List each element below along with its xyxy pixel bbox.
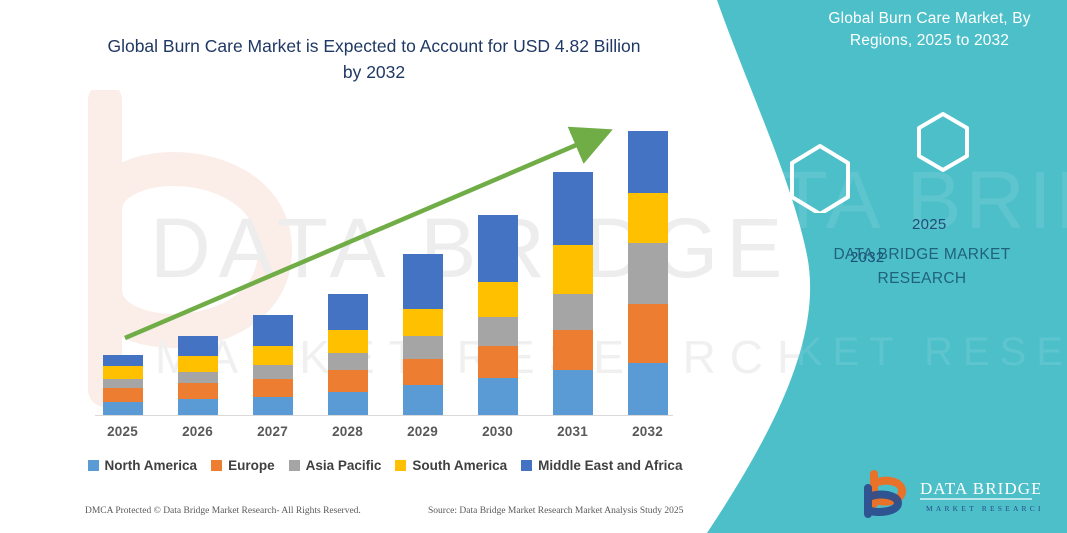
bar-2025 [103, 355, 143, 416]
bar-segment [103, 388, 143, 401]
bar-segment [328, 370, 368, 391]
bar-segment [178, 372, 218, 383]
hexagon-group: 2025 2032 [687, 88, 1067, 213]
legend-label: North America [105, 458, 198, 473]
bar-segment [553, 330, 593, 370]
bar-2031 [553, 172, 593, 416]
bar-segment [478, 346, 518, 379]
legend-item[interactable]: North America [88, 458, 198, 473]
legend-item[interactable]: Asia Pacific [289, 458, 382, 473]
bar-segment [103, 402, 143, 416]
bar-segment [478, 282, 518, 317]
svg-text:MARKET RESEARCH: MARKET RESEARCH [926, 504, 1040, 513]
x-label-2028: 2028 [318, 424, 378, 439]
bar-segment [403, 385, 443, 416]
hexagon-2025 [919, 114, 967, 170]
bar-segment [403, 336, 443, 358]
bar-segment [628, 363, 668, 416]
footer-source: Source: Data Bridge Market Research Mark… [428, 506, 683, 516]
legend-swatch-icon [211, 460, 222, 471]
bar-segment [478, 215, 518, 282]
bar-segment [103, 355, 143, 366]
footer-copyright: DMCA Protected © Data Bridge Market Rese… [85, 506, 361, 516]
panel-content: DATA BRIDGE MARKET RESEARCH Global Burn … [687, 0, 1067, 533]
legend-swatch-icon [88, 460, 99, 471]
bar-segment [253, 397, 293, 416]
hexagon-2032 [792, 146, 848, 213]
chart-title: Global Burn Care Market is Expected to A… [100, 34, 648, 86]
bar-segment [253, 379, 293, 396]
bar-segment [628, 193, 668, 243]
bar-segment [553, 370, 593, 416]
svg-text:DATA BRIDGE: DATA BRIDGE [920, 479, 1040, 498]
bar-segment [628, 131, 668, 192]
bar-segment [478, 317, 518, 346]
legend-item[interactable]: Middle East and Africa [521, 458, 682, 473]
bar-segment [328, 392, 368, 416]
bar-2030 [478, 215, 518, 416]
legend-label: Asia Pacific [306, 458, 382, 473]
x-label-2026: 2026 [168, 424, 228, 439]
bar-segment [253, 365, 293, 379]
bar-segment [328, 353, 368, 370]
bar-segment [628, 304, 668, 363]
bar-2027 [253, 315, 293, 416]
legend-label: South America [412, 458, 507, 473]
footer: DMCA Protected © Data Bridge Market Rese… [0, 506, 700, 528]
bar-segment [478, 378, 518, 416]
bar-2028 [328, 294, 368, 416]
bar-2029 [403, 254, 443, 416]
x-axis-line [95, 415, 673, 416]
bar-segment [178, 336, 218, 355]
bar-segment [178, 383, 218, 398]
bar-segment [103, 379, 143, 388]
legend-item[interactable]: Europe [211, 458, 275, 473]
bar-segment [553, 245, 593, 294]
legend-label: Europe [228, 458, 275, 473]
bar-segment [328, 330, 368, 352]
legend-label: Middle East and Africa [538, 458, 682, 473]
legend-swatch-icon [289, 460, 300, 471]
legend-swatch-icon [395, 460, 406, 471]
bar-segment [328, 294, 368, 331]
x-label-2031: 2031 [543, 424, 603, 439]
dbmr-logo: DATA BRIDGE MARKET RESEARCH [860, 470, 1040, 518]
hexagon-label-2025: 2025 [912, 216, 947, 233]
bar-segment [178, 399, 218, 416]
bar-segment [253, 346, 293, 365]
legend-item[interactable]: South America [395, 458, 507, 473]
bar-segment [253, 315, 293, 346]
bar-segment [178, 356, 218, 372]
chart-legend: North AmericaEuropeAsia PacificSouth Ame… [95, 455, 675, 475]
bar-segment [403, 309, 443, 337]
x-label-2029: 2029 [393, 424, 453, 439]
panel-brand-text: DATA BRIDGE MARKET RESEARCH [792, 243, 1052, 291]
bar-chart-plot [85, 120, 685, 416]
x-label-2025: 2025 [93, 424, 153, 439]
infographic-canvas: DATA BRIDGE MARKET RESEARCH Global Burn … [0, 0, 1067, 533]
legend-swatch-icon [521, 460, 532, 471]
bar-segment [628, 243, 668, 304]
bar-segment [553, 172, 593, 244]
x-label-2027: 2027 [243, 424, 303, 439]
bar-segment [403, 359, 443, 386]
bar-2032 [628, 131, 668, 416]
bar-segment [553, 294, 593, 331]
x-axis-labels: 20252026202720282029203020312032 [85, 424, 685, 446]
bar-segment [103, 366, 143, 379]
panel-title: Global Burn Care Market, By Regions, 202… [802, 8, 1057, 53]
bar-2026 [178, 336, 218, 416]
panel-watermark-line2: MARKET RESEARCH [677, 330, 1067, 375]
bar-segment [403, 254, 443, 309]
x-label-2030: 2030 [468, 424, 528, 439]
x-label-2032: 2032 [618, 424, 678, 439]
